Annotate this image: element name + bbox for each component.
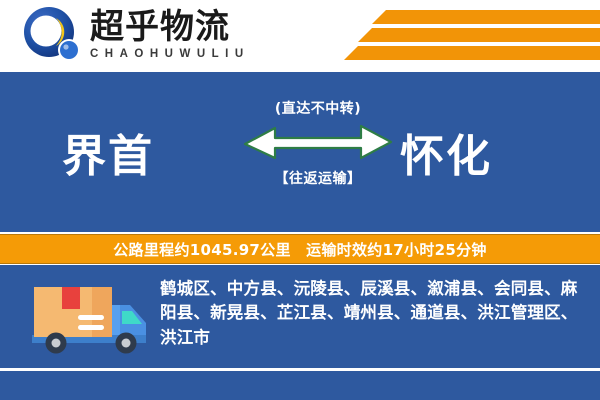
route-panel: 界首 (直达不中转) 【往返运输】 怀化 — [0, 72, 600, 232]
brand-logo-block: 超乎物流 CHAOHUWULIU — [22, 6, 250, 64]
banner-header: 超乎物流 CHAOHUWULIU — [0, 0, 600, 70]
route-info-bar: 公路里程约1045.97公里 运输时效约17小时25分钟 — [0, 234, 600, 264]
brand-name-cn: 超乎物流 — [90, 10, 250, 46]
round-trip-label: 【往返运输】 — [243, 168, 393, 188]
bidirectional-arrow-icon — [243, 120, 393, 165]
origin-city-label: 界首 — [62, 120, 154, 184]
speed-stripes-icon — [340, 8, 600, 64]
logistics-route-banner: 超乎物流 CHAOHUWULIU 界首 (直达不中转) 【往返运输】 怀化 — [0, 0, 600, 400]
circle-crescent-logo-icon — [22, 6, 84, 64]
destination-city-label: 怀化 — [400, 120, 492, 184]
direct-shipping-label: (直达不中转) — [243, 98, 393, 118]
route-arrow-group: (直达不中转) 【往返运输】 — [243, 98, 393, 188]
delivery-truck-icon — [22, 279, 150, 359]
distance-and-duration-label: 公路里程约1045.97公里 运输时效约17小时25分钟 — [113, 239, 486, 260]
coverage-areas-label: 鹤城区、中方县、沅陵县、辰溪县、溆浦县、会同县、麻阳县、新晃县、芷江县、靖州县、… — [160, 277, 584, 350]
coverage-panel: 鹤城区、中方县、沅陵县、辰溪县、溆浦县、会同县、麻阳县、新晃县、芷江县、靖州县、… — [0, 265, 600, 400]
brand-text-block: 超乎物流 CHAOHUWULIU — [90, 10, 250, 60]
brand-name-en: CHAOHUWULIU — [90, 48, 250, 60]
bottom-divider — [0, 368, 600, 371]
